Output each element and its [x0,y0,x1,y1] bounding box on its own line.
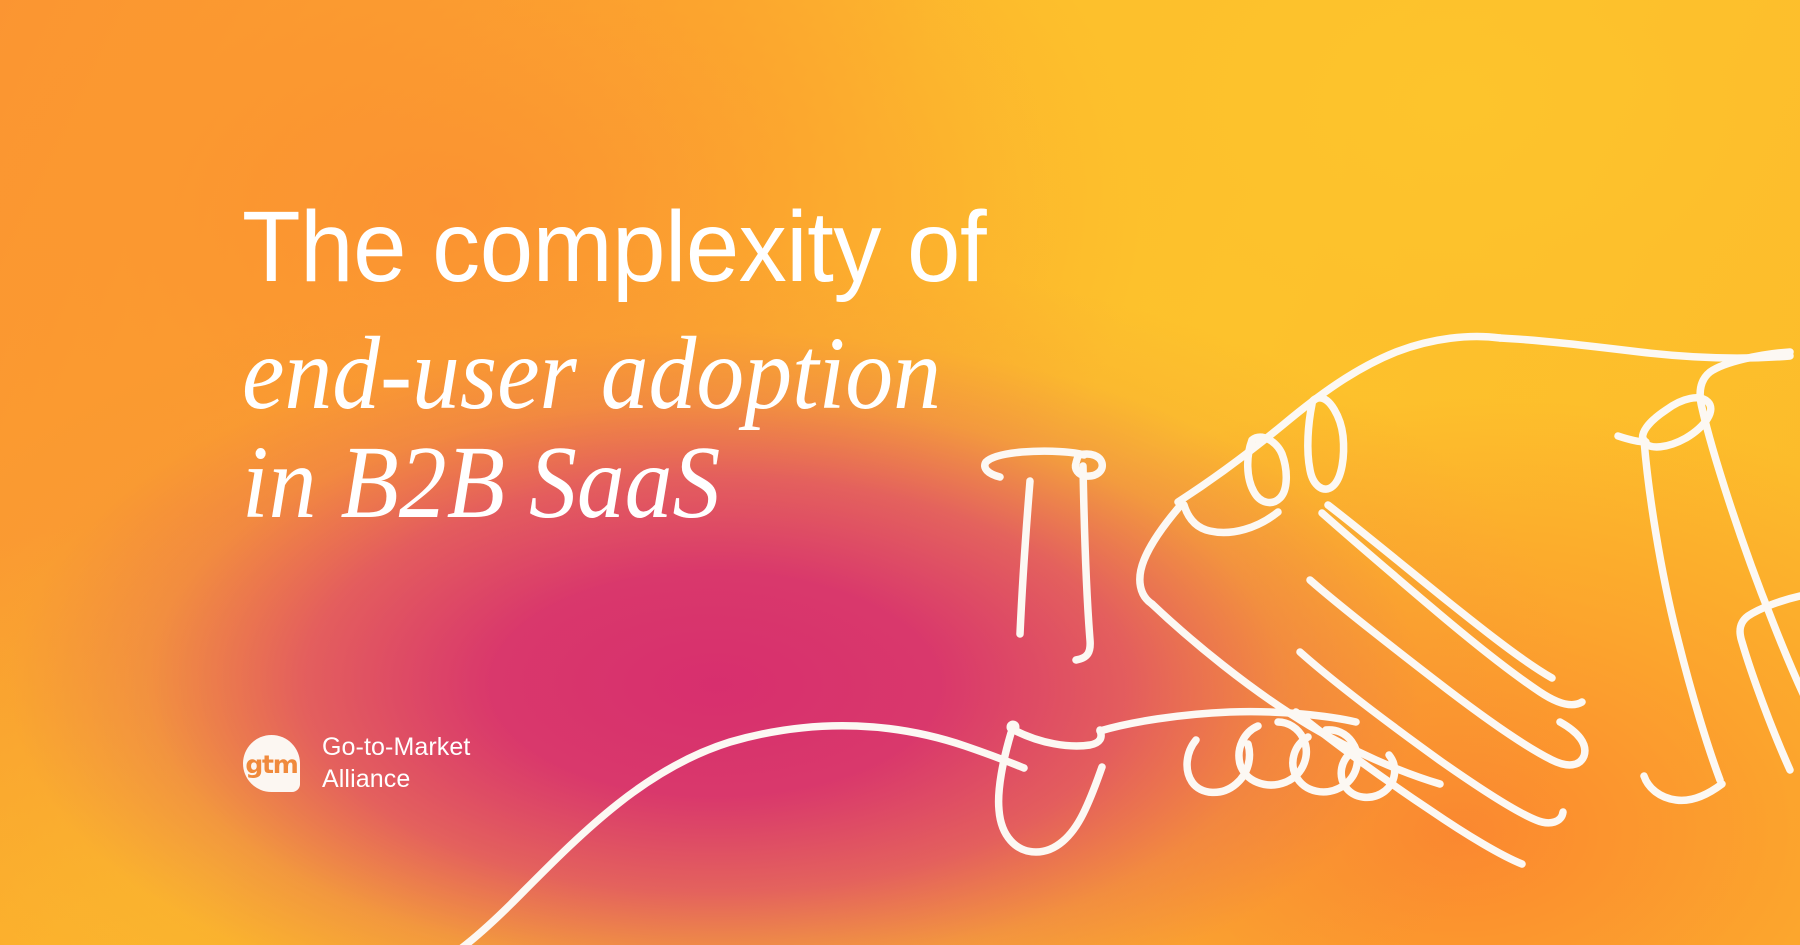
headline-block: The complexity of end-user adoption in B… [242,196,1242,546]
social-card-canvas: The complexity of end-user adoption in B… [0,0,1800,945]
gtm-logo-mark-icon: gtm [243,735,300,792]
gtm-logo-mark-label: gtm [245,752,297,777]
headline-line-1: The complexity of [242,196,1202,298]
brand-name-line-1: Go-to-Market [322,732,470,764]
brand-name: Go-to-Market Alliance [322,732,470,795]
brand-name-line-2: Alliance [322,764,470,796]
brand-logo-lockup[interactable]: gtm Go-to-Market Alliance [243,732,470,795]
headline-line-2: end-user adoption [242,312,1162,437]
headline-line-3: in B2B SaaS [242,421,1162,546]
